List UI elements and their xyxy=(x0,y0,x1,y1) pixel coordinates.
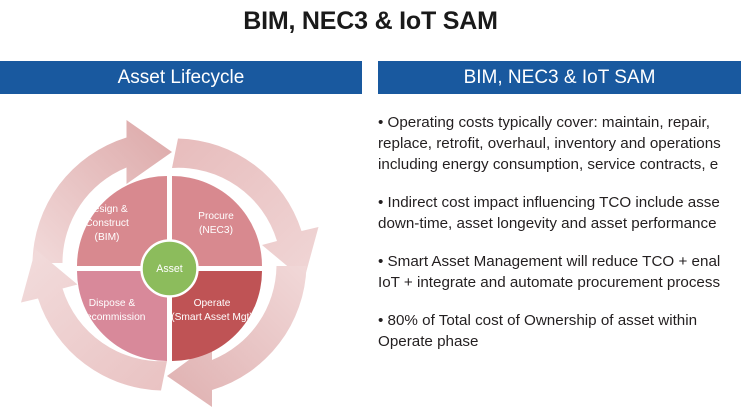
segment-label-line: Design & xyxy=(86,204,128,215)
segment-label-line: (BIM) xyxy=(95,232,120,243)
segment-label-line: Procure xyxy=(198,211,234,222)
list-item: • 80% of Total cost of Ownership of asse… xyxy=(378,310,741,352)
segment-label-line: Dispose & xyxy=(89,298,136,309)
asset-lifecycle-diagram: Design & Construct (BIM) Procure (NEC3) … xyxy=(0,100,340,420)
segment-label-line: (NEC3) xyxy=(199,225,233,236)
panel-header-bim-nec3-iot-sam: BIM, NEC3 & IoT SAM xyxy=(378,61,741,94)
center-label: Asset xyxy=(156,263,183,275)
segment-label-line: Construct xyxy=(85,218,129,229)
segment-label-line: (Smart Asset Mgt) xyxy=(171,312,253,323)
segment-label-line: Operate xyxy=(194,298,231,309)
cycle-svg: Design & Construct (BIM) Procure (NEC3) … xyxy=(0,100,340,420)
list-item: • Operating costs typically cover: maint… xyxy=(378,112,741,175)
list-item: • Indirect cost impact influencing TCO i… xyxy=(378,192,741,234)
bullet-list: • Operating costs typically cover: maint… xyxy=(378,112,741,352)
page-title: BIM, NEC3 & IoT SAM xyxy=(0,2,741,40)
panel-header-asset-lifecycle: Asset Lifecycle xyxy=(0,61,362,94)
list-item: • Smart Asset Management will reduce TCO… xyxy=(378,251,741,293)
segment-label-line: Decommission xyxy=(79,312,146,323)
cycle-center-hub[interactable]: Asset xyxy=(142,241,198,297)
